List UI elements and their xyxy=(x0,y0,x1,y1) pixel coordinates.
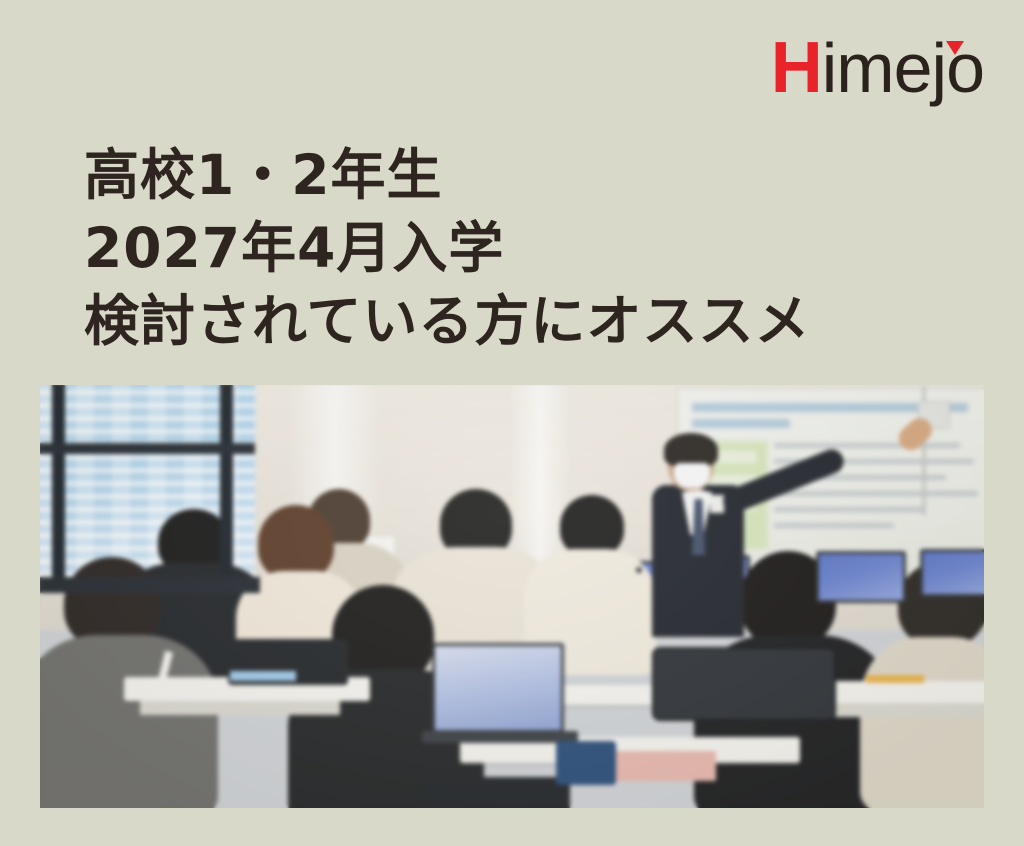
chair-mesh-right xyxy=(652,647,836,721)
window-frame-vertical-left xyxy=(52,385,65,590)
desk-front-left-shelf xyxy=(140,701,340,715)
student-head xyxy=(560,495,624,557)
classroom-photo xyxy=(40,385,984,808)
laptop-foreground-base xyxy=(422,731,578,743)
laptop-screen-foreground xyxy=(435,646,561,730)
logo-initial-h: H xyxy=(771,32,822,104)
headline-line-1: 高校1・2年生 xyxy=(84,139,810,212)
screen-body-line-5 xyxy=(774,507,924,512)
screen-heading-line-2 xyxy=(692,419,790,428)
screen-body-line-4 xyxy=(774,491,978,496)
headline-line-3: 検討されている方にオススメ xyxy=(84,285,810,358)
student-torso xyxy=(40,635,218,808)
desk-paper-blue xyxy=(230,671,296,681)
screen-body-line-1 xyxy=(774,443,960,448)
presenter-name-badge xyxy=(710,495,724,513)
himejo-logo: H imejo xyxy=(771,32,984,104)
laptop-foreground xyxy=(432,643,564,733)
poster-canvas: H imejo 高校1・2年生 2027年4月入学 検討されている方にオススメ xyxy=(0,0,1024,846)
laptop-screen-right-1 xyxy=(819,554,903,600)
logo-wordmark-rest: imejo xyxy=(822,33,984,103)
classroom-photo-scene xyxy=(40,385,984,808)
window-frame-horizontal xyxy=(40,443,255,454)
laptop-spacer xyxy=(636,567,642,573)
window-sill xyxy=(40,577,260,593)
laptop-screen-right-2 xyxy=(923,552,984,594)
student-torso xyxy=(860,637,984,808)
desk-item-yellow xyxy=(866,675,924,683)
presenter-face-mask xyxy=(674,463,710,488)
logo-triangle-accent-icon xyxy=(946,41,964,55)
student-head xyxy=(258,505,334,581)
presenter-hair xyxy=(664,433,718,467)
laptop-right-1 xyxy=(816,551,906,603)
chair-foreground xyxy=(420,777,570,808)
headline-block: 高校1・2年生 2027年4月入学 検討されている方にオススメ xyxy=(84,139,810,358)
laptop-right-2 xyxy=(920,549,984,597)
window-frame-vertical-right xyxy=(220,385,233,590)
headline-line-2: 2027年4月入学 xyxy=(84,212,810,285)
screen-body-line-6 xyxy=(774,523,894,528)
bag-navy xyxy=(556,741,616,785)
desk-front-right-shelf xyxy=(816,703,984,717)
